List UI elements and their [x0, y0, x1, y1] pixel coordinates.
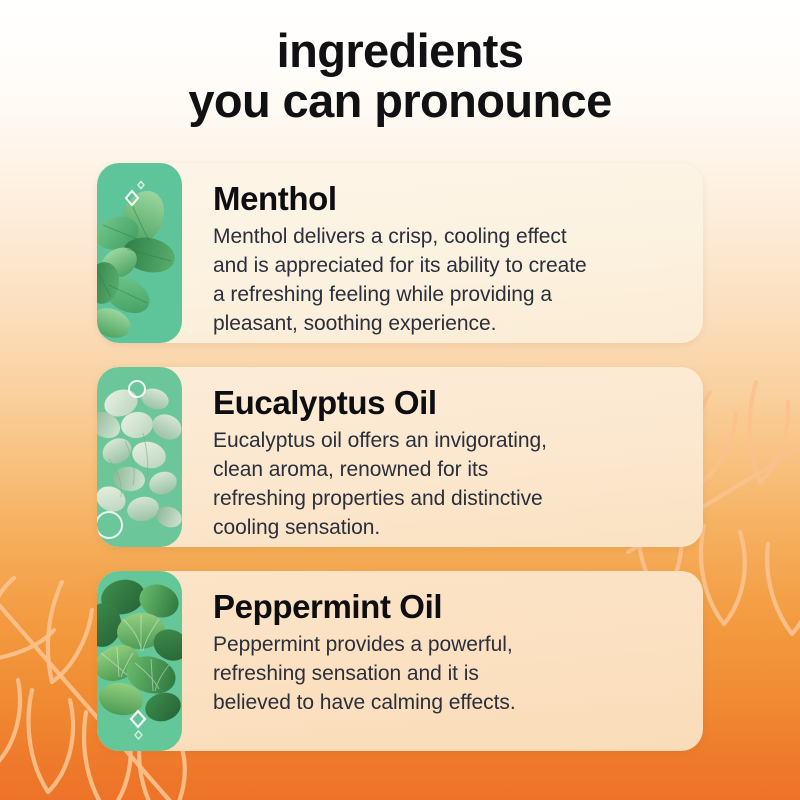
- ingredient-description: Peppermint provides a powerful, refreshi…: [213, 630, 679, 717]
- ingredient-title: Eucalyptus Oil: [213, 383, 679, 423]
- ingredient-text: Peppermint Oil Peppermint provides a pow…: [182, 571, 703, 751]
- ingredients-poster: ingredients you can pronounce: [0, 0, 800, 800]
- ingredient-title: Menthol: [213, 179, 679, 219]
- ingredient-description: Eucalyptus oil offers an invigorating, c…: [213, 426, 679, 542]
- ingredient-description: Menthol delivers a crisp, cooling effect…: [213, 222, 679, 338]
- ingredient-thumbnail: [97, 571, 182, 751]
- ingredient-thumbnail: [97, 367, 182, 547]
- headline-line-1: ingredients: [0, 26, 800, 76]
- ingredient-text: Eucalyptus Oil Eucalyptus oil offers an …: [182, 367, 703, 547]
- ingredient-card[interactable]: Menthol Menthol delivers a crisp, coolin…: [97, 163, 703, 343]
- headline-line-2: you can pronounce: [0, 76, 800, 126]
- page-title: ingredients you can pronounce: [0, 26, 800, 126]
- ingredient-card[interactable]: Eucalyptus Oil Eucalyptus oil offers an …: [97, 367, 703, 547]
- ingredient-card[interactable]: Peppermint Oil Peppermint provides a pow…: [97, 571, 703, 751]
- ingredient-thumbnail: [97, 163, 182, 343]
- ingredient-title: Peppermint Oil: [213, 587, 679, 627]
- ingredient-card-list: Menthol Menthol delivers a crisp, coolin…: [97, 163, 703, 751]
- ingredient-text: Menthol Menthol delivers a crisp, coolin…: [182, 163, 703, 343]
